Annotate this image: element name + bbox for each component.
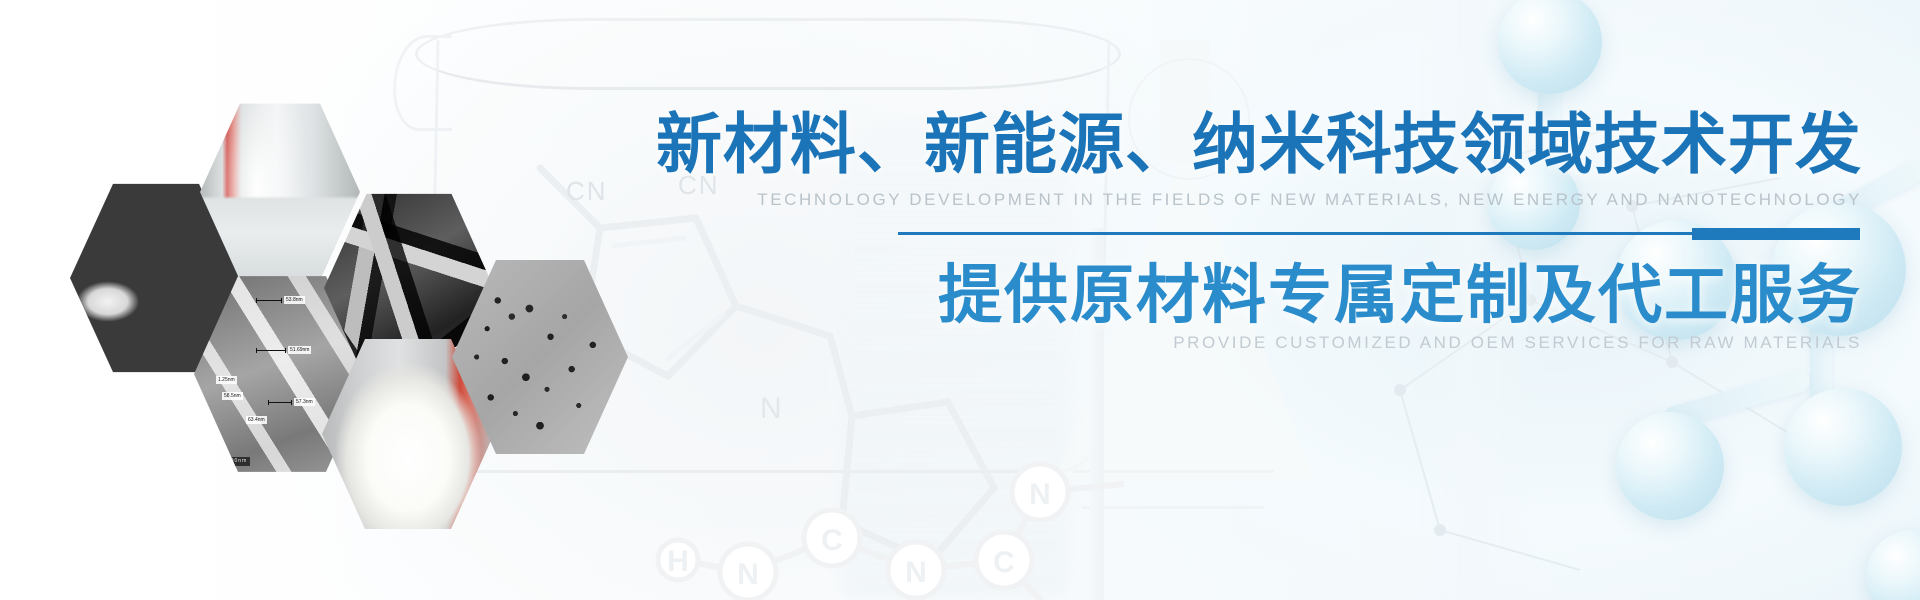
promo-banner: CN CN N H N — [0, 0, 1920, 600]
headline-secondary-cn: 提供原材料专属定制及代工服务 — [938, 258, 1862, 332]
headline-primary-en: TECHNOLOGY DEVELOPMENT IN THE FIELDS OF … — [757, 190, 1862, 210]
headline-primary-cn: 新材料、新能源、纳米科技领域技术开发 — [656, 106, 1862, 182]
headline-secondary-en: PROVIDE CUSTOMIZED AND OEM SERVICES FOR … — [1173, 333, 1862, 353]
divider-thick-block — [1692, 228, 1860, 240]
headline-divider — [898, 228, 1860, 240]
banner-text-block: 新材料、新能源、纳米科技领域技术开发 TECHNOLOGY DEVELOPMEN… — [0, 0, 1920, 600]
